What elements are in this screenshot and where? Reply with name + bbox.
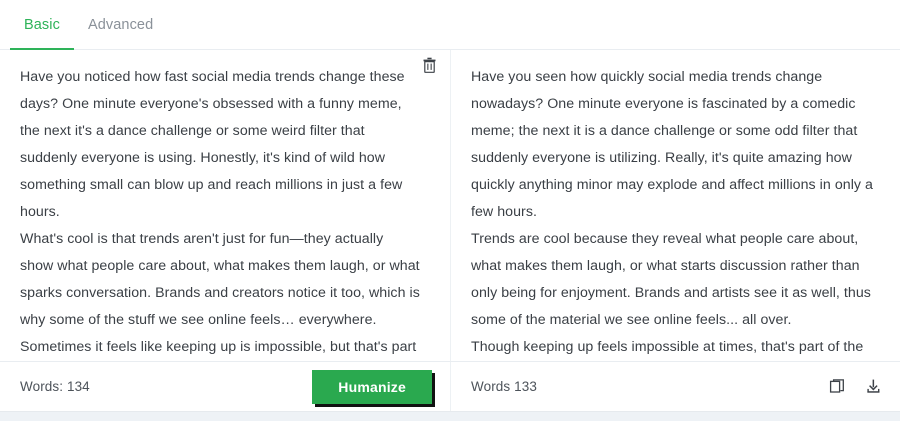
output-footer: Words 133 bbox=[450, 362, 900, 411]
tab-basic[interactable]: Basic bbox=[10, 0, 74, 49]
copy-icon[interactable] bbox=[828, 378, 846, 396]
output-word-count: Words 133 bbox=[471, 379, 537, 394]
tab-advanced-label: Advanced bbox=[88, 17, 153, 33]
tab-basic-label: Basic bbox=[24, 17, 60, 33]
download-icon[interactable] bbox=[864, 378, 882, 396]
input-footer: Words: 134 Humanize bbox=[0, 362, 450, 411]
tab-bar: Basic Advanced bbox=[0, 0, 900, 50]
editor-panels: Have you noticed how fast social media t… bbox=[0, 50, 900, 361]
input-text[interactable]: Have you noticed how fast social media t… bbox=[20, 64, 428, 361]
input-word-count: Words: 134 bbox=[20, 379, 90, 394]
input-panel[interactable]: Have you noticed how fast social media t… bbox=[0, 50, 450, 361]
footer-bar: Words: 134 Humanize Words 133 bbox=[0, 361, 900, 411]
output-text[interactable]: Have you seen how quickly social media t… bbox=[471, 64, 878, 361]
output-panel[interactable]: Have you seen how quickly social media t… bbox=[450, 50, 900, 361]
trash-icon[interactable] bbox=[419, 55, 439, 75]
main-card: Basic Advanced Have you noticed how fast… bbox=[0, 0, 900, 412]
humanizer-app: Basic Advanced Have you noticed how fast… bbox=[0, 0, 900, 421]
humanize-button[interactable]: Humanize bbox=[312, 370, 432, 404]
humanize-button-wrap: Humanize bbox=[312, 370, 432, 404]
tab-advanced[interactable]: Advanced bbox=[74, 0, 167, 49]
output-actions bbox=[828, 378, 882, 396]
